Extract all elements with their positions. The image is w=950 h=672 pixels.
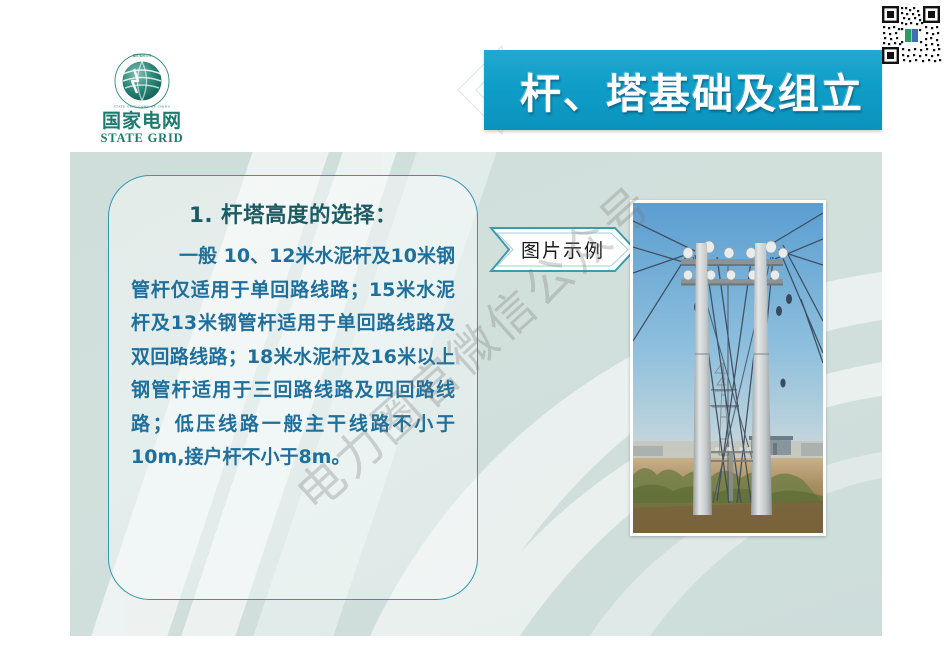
state-grid-logo: 国家电网公司 STATE GRID CORP. OF CHINA 国家电网 ST… (88, 52, 196, 148)
slide-root: 国家电网公司 STATE GRID CORP. OF CHINA 国家电网 ST… (0, 0, 950, 672)
logo-english-text: STATE GRID (88, 131, 196, 145)
logo-chinese-text: 国家电网 (88, 111, 196, 131)
example-photo (633, 203, 823, 533)
svg-text:国家电网公司: 国家电网公司 (133, 52, 152, 57)
qr-code-icon[interactable] (879, 3, 943, 67)
slide-title-bar: 杆、塔基础及组立 (484, 50, 882, 130)
image-example-tag-label: 图片示例 (489, 226, 637, 273)
example-photo-frame (630, 200, 826, 536)
content-textbox: 1. 杆塔高度的选择： 一般 10、12米水泥杆及10米钢管杆仅适用于单回路线路… (108, 175, 478, 600)
content-heading: 1. 杆塔高度的选择： (131, 202, 455, 230)
content-panel: 1. 杆塔高度的选择： 一般 10、12米水泥杆及10米钢管杆仅适用于单回路线路… (70, 152, 882, 636)
content-body: 一般 10、12米水泥杆及10米钢管杆仅适用于单回路线路；15米水泥杆及13米钢… (131, 240, 455, 475)
state-grid-globe-icon: 国家电网公司 STATE GRID CORP. OF CHINA (113, 52, 171, 110)
page-title: 杆、塔基础及组立 (484, 50, 882, 130)
image-example-tag: 图片示例 (489, 226, 637, 273)
svg-text:STATE GRID CORP. OF CHINA: STATE GRID CORP. OF CHINA (114, 104, 171, 108)
